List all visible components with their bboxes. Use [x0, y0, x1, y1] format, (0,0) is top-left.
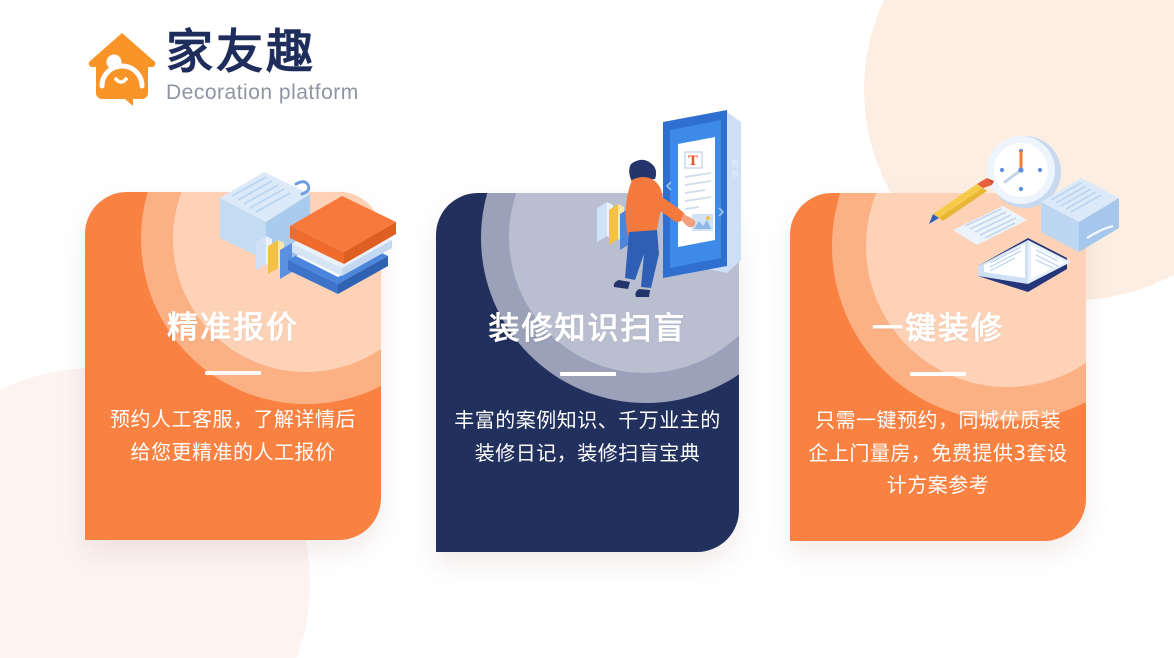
- feature-card-group: 精准报价 预约人工客服，了解详情后给您更精准的人工报价 装修知识扫盲 丰富的案例…: [0, 0, 1174, 658]
- card-description: 丰富的案例知识、千万业主的装修日记，装修扫盲宝典: [454, 404, 721, 469]
- slide-canvas: 家友趣 Decoration platform 精准报价 预约人工客服，了解详情…: [0, 0, 1174, 658]
- card-description: 预约人工客服，了解详情后给您更精准的人工报价: [103, 403, 363, 468]
- card-title: 装修知识扫盲: [454, 311, 721, 348]
- feature-card-decoration-knowledge[interactable]: 装修知识扫盲 丰富的案例知识、千万业主的装修日记，装修扫盲宝典: [436, 193, 739, 552]
- card-content: 一键装修 只需一键预约，同城优质装企上门量房，免费提供3套设计方案参考: [790, 311, 1086, 501]
- card-content: 装修知识扫盲 丰富的案例知识、千万业主的装修日记，装修扫盲宝典: [436, 311, 739, 469]
- card-content: 精准报价 预约人工客服，了解详情后给您更精准的人工报价: [85, 310, 381, 468]
- card-divider: [560, 372, 616, 376]
- card-divider: [910, 372, 966, 376]
- card-title: 一键装修: [808, 311, 1068, 348]
- card-description: 只需一键预约，同城优质装企上门量房，免费提供3套设计方案参考: [808, 404, 1068, 501]
- card-title: 精准报价: [103, 310, 363, 347]
- feature-card-accurate-quote[interactable]: 精准报价 预约人工客服，了解详情后给您更精准的人工报价: [85, 192, 381, 540]
- feature-card-one-click-decoration[interactable]: 一键装修 只需一键预约，同城优质装企上门量房，免费提供3套设计方案参考: [790, 193, 1086, 541]
- card-divider: [205, 371, 261, 375]
